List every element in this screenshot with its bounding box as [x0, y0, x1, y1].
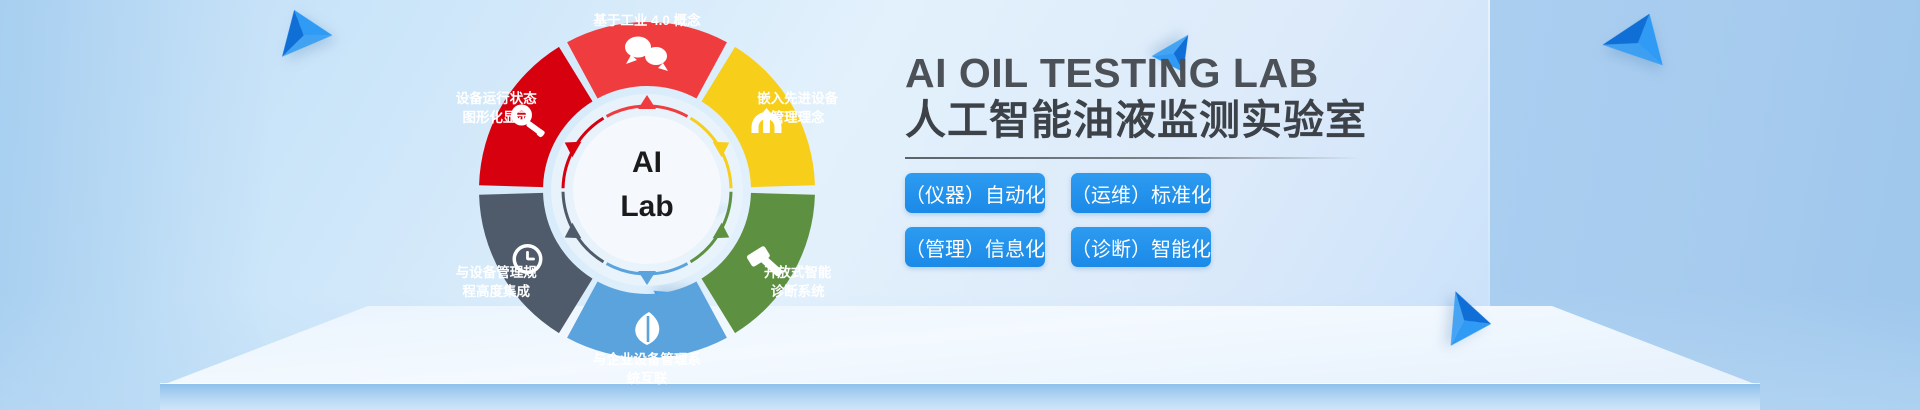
- heading-block: AI OIL TESTING LAB 人工智能油液监测实验室 （仪器）自动化 （…: [905, 52, 1545, 281]
- wheel-segment-label-status-visual-line1: 设备运行状态: [456, 90, 537, 106]
- wheel-segment-label-advanced-equipment-line1: 嵌入先进设备: [757, 90, 838, 106]
- hub-label-line2: Lab: [620, 190, 673, 223]
- wheel-segment-label-open-diagnosis-line1: 开放式智能: [764, 264, 832, 280]
- tag-row-2: （管理）信息化 （诊断）智能化: [905, 227, 1545, 267]
- triangle-bottom-right-icon: [1427, 283, 1499, 355]
- wheel-segment-label-management-rules-line2: 程高度集成: [463, 283, 531, 299]
- wheel-segment-label-management-rules-line1: 与设备管理规: [456, 264, 537, 280]
- wheel-segment-label-industry40-line1: 基于工业 4.0 概念: [593, 12, 701, 28]
- banner-root: 基于工业 4.0 概念嵌入先进设备管理理念开放式智能诊断系统与企业设备管理系统互…: [0, 0, 1920, 410]
- wheel-segment-label-enterprise-link-line1: 与企业设备管理系: [593, 351, 701, 367]
- tag-instrument-automation[interactable]: （仪器）自动化: [905, 173, 1045, 213]
- tag-diagnosis-intelligence[interactable]: （诊断）智能化: [1071, 227, 1211, 267]
- triangle-top-left-icon: [264, 0, 342, 76]
- wheel-segment-label-status-visual-line2: 图形化显示: [463, 109, 531, 125]
- wheel-segment-label-open-diagnosis-line2: 诊断系统: [771, 283, 825, 299]
- wheel-segment-label-enterprise-link-line2: 统互联: [627, 370, 668, 386]
- ai-lab-wheel-diagram: 基于工业 4.0 概念嵌入先进设备管理理念开放式智能诊断系统与企业设备管理系统互…: [385, 0, 910, 410]
- title-divider: [905, 157, 1360, 159]
- wheel-segment-label-advanced-equipment-line2: 管理理念: [771, 109, 825, 125]
- tag-management-informatization[interactable]: （管理）信息化: [905, 227, 1045, 267]
- tag-operations-standardization[interactable]: （运维）标准化: [1071, 173, 1211, 213]
- hub-label-line1: AI: [632, 146, 662, 179]
- title-english: AI OIL TESTING LAB: [905, 52, 1545, 95]
- tag-row-1: （仪器）自动化 （运维）标准化: [905, 173, 1545, 213]
- title-chinese: 人工智能油液监测实验室: [905, 97, 1545, 144]
